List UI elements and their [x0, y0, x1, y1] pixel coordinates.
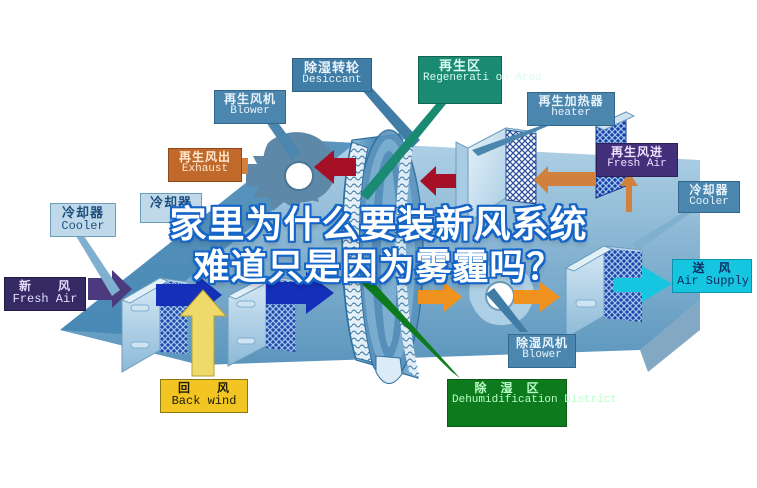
label-cn-text: 除湿转轮: [297, 61, 367, 75]
label-dehumidification-district: 除 湿 区Dehumidification District: [447, 379, 567, 427]
label-fresh-air-in: 新 风Fresh Air: [4, 277, 86, 311]
label-regeneration-heater: 再生加热器heater: [527, 92, 615, 126]
label-regeneration-area: 再生区Regenerati on Area: [418, 56, 502, 104]
label-en-text: Air Supply: [677, 275, 747, 288]
label-en-text: Blower: [219, 106, 281, 118]
label-cn-text: 冷却器: [683, 184, 735, 197]
label-cn-text: 再生区: [423, 59, 497, 73]
label-en-text: Fresh Air: [9, 293, 81, 306]
label-cn-text: 除 湿 区: [452, 382, 562, 395]
label-cooler-left: 冷却器Cooler: [50, 203, 116, 237]
label-en-text: Desiccant: [297, 75, 367, 87]
label-cn-text: 再生风出: [173, 151, 237, 164]
label-en-text: Exhaust: [173, 164, 237, 176]
label-cn-text: 回 风: [165, 382, 243, 395]
label-air-supply: 送 风Air Supply: [672, 259, 752, 293]
label-en-text: Regenerati on Area: [423, 73, 497, 85]
label-en-text: Cooler: [683, 197, 735, 209]
label-en-text: Blower: [513, 350, 571, 362]
label-regeneration-fresh-air-in: 再生风进Fresh Air: [596, 143, 678, 177]
schematic-canvas: XNY: [0, 0, 757, 488]
label-desiccant-rotor: 除湿转轮Desiccant: [292, 58, 372, 92]
label-cn-text: 再生风机: [219, 93, 281, 106]
label-cn-text: 送 风: [677, 262, 747, 275]
label-regeneration-blower: 再生风机Blower: [214, 90, 286, 124]
label-back-wind: 回 风Back wind: [160, 379, 248, 413]
label-dehumidification-blower: 除湿风机Blower: [508, 334, 576, 368]
label-cn-text: 冷却器: [145, 196, 197, 210]
label-en-text: Dehumidification District: [452, 395, 562, 407]
label-cooler-mid: 冷却器: [140, 193, 202, 223]
label-en-text: heater: [532, 108, 610, 120]
label-en-text: Back wind: [165, 395, 243, 408]
label-en-text: Fresh Air: [601, 159, 673, 171]
dehumidifier-machine-illustration: XNY: [0, 0, 757, 488]
label-cn-text: 再生风进: [601, 146, 673, 159]
label-en-text: Cooler: [55, 220, 111, 233]
label-exhaust: 再生风出Exhaust: [168, 148, 242, 182]
label-cn-text: 除湿风机: [513, 337, 571, 350]
label-cn-text: 再生加热器: [532, 95, 610, 108]
label-cooler-right: 冷却器Cooler: [678, 181, 740, 213]
label-cn-text: 新 风: [9, 280, 81, 293]
label-cn-text: 冷却器: [55, 206, 111, 220]
